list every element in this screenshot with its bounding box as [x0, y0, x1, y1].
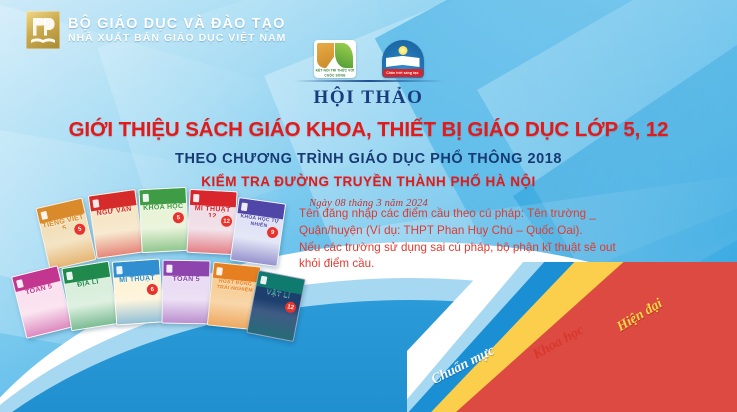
textbook-cover: TOÁN 5 [161, 260, 210, 325]
publisher-crest-icon [66, 271, 73, 280]
series-logo-ket-noi-tri-thuc: KẾT NỐI TRI THỨC VỚI CUỘC SỐNG [314, 40, 356, 78]
series-logo-chan-troi-sang-tao: Chân trời sáng tạo [382, 40, 424, 78]
title-divider [294, 80, 444, 82]
subtitle-program: THEO CHƯƠNG TRÌNH GIÁO DỤC PHỔ THÔNG 201… [0, 151, 737, 167]
instruction-line: Tên đăng nhập các điểm cầu theo cú pháp:… [299, 206, 691, 223]
page-title: GIỚI THIỆU SÁCH GIÁO KHOA, THIẾT BỊ GIÁO… [0, 118, 737, 142]
series-logos: KẾT NỐI TRI THỨC VỚI CUỘC SỐNG Chân trời… [0, 40, 737, 78]
publisher-crest-icon [116, 266, 123, 274]
textbook-cover-art [18, 292, 71, 338]
textbook-cover-art [67, 287, 118, 330]
publisher-crest-icon [260, 275, 267, 284]
slide-canvas: BỘ GIÁO DỤC VÀ ĐÀO TẠO NHÀ XUẤT BẢN GIÁO… [0, 0, 737, 412]
ministry-name: BỘ GIÁO DỤC VÀ ĐÀO TẠO [68, 17, 286, 32]
textbook-title: TOÁN 5 [163, 276, 209, 284]
textbook-header-bar [163, 261, 209, 277]
publisher-crest-icon [166, 264, 172, 272]
slogan-ribbons: Chuẩn mực Khoa học Hiện đại [407, 262, 737, 412]
instruction-line: Quận/huyện (Ví dụ: THPT Phan Huy Chú – Q… [299, 223, 691, 240]
sunrise-book-logo-icon: Chân trời sáng tạo [382, 40, 424, 78]
textbook-cover: ĐỊA LÍ [61, 261, 118, 332]
publisher-crest-icon [16, 279, 24, 288]
title-block: HỘI THẢO GIỚI THIỆU SÁCH GIÁO KHOA, THIẾ… [0, 80, 737, 209]
series-logo-caption: Chân trời sáng tạo [386, 71, 418, 75]
textbook-cover: MĨ THUẬT6 [112, 258, 164, 325]
textbook-cover-art [93, 216, 144, 258]
publisher-crest-icon [40, 210, 48, 219]
event-kicker: HỘI THẢO [0, 87, 737, 109]
leaf-book-logo-icon [317, 43, 353, 68]
textbook-cover-art [162, 287, 209, 324]
publisher-crest-icon [216, 267, 223, 276]
series-logo-caption: KẾT NỐI TRI THỨC VỚI CUỘC SỐNG [312, 69, 357, 78]
instruction-line: Nếu các trường sử dụng sai cú pháp, bộ p… [299, 240, 691, 257]
textbook-fan: TIẾNG VIỆT 55NGỮ VĂNKHOA HỌC5MĨ THUẬT 12… [0, 186, 310, 376]
subtitle-connection-test: KIỂM TRA ĐƯỜNG TRUYỀN THÀNH PHỐ HÀ NỘI [0, 174, 737, 189]
